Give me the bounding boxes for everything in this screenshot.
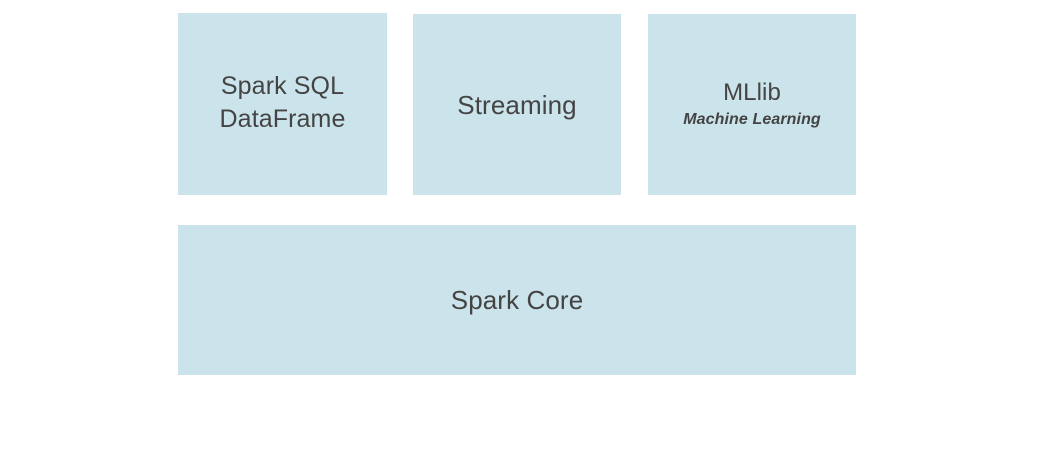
diagram-block-mllib-title: MLlib [723,78,781,108]
diagram-block-spark-sql-title: Spark SQL DataFrame [220,70,346,136]
diagram-block-spark-sql: Spark SQL DataFrame [178,13,387,195]
diagram-block-streaming: Streaming [413,14,621,195]
diagram-block-mllib-subtitle: Machine Learning [683,109,821,131]
diagram-block-spark-core: Spark Core [178,225,856,375]
spark-stack-diagram: Spark SQL DataFrame Streaming MLlib Mach… [0,0,1053,457]
diagram-block-streaming-title: Streaming [457,89,576,121]
diagram-block-spark-core-title: Spark Core [451,284,584,316]
diagram-block-mllib: MLlib Machine Learning [648,14,856,195]
